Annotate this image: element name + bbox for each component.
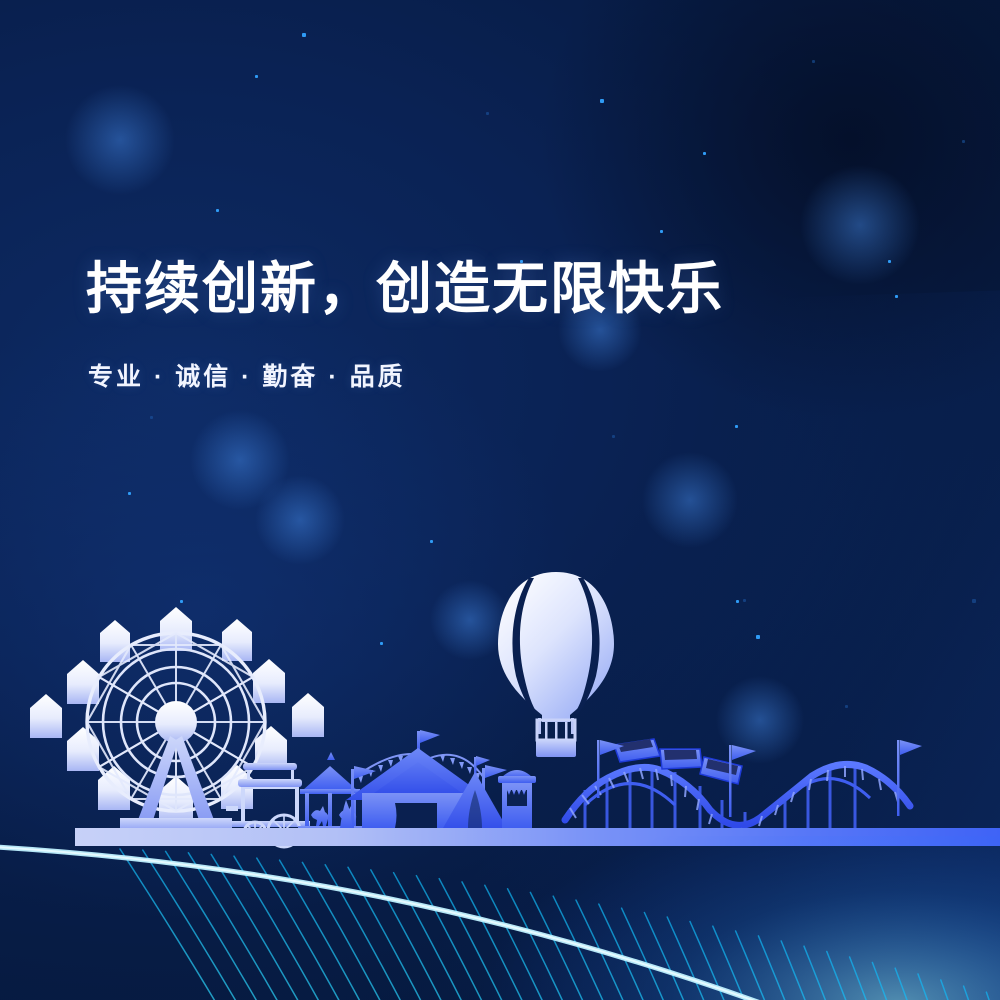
page-title: 持续创新，创造无限快乐 <box>86 258 724 321</box>
night-sky-background <box>0 0 1000 1000</box>
promo-banner: 持续创新，创造无限快乐 专业 · 诚信 · 勤奋 · 品质 <box>0 0 1000 1000</box>
hero-copy: 持续创新，创造无限快乐 专业 · 诚信 · 勤奋 · 品质 <box>86 258 724 393</box>
tagline: 专业 · 诚信 · 勤奋 · 品质 <box>88 357 724 393</box>
